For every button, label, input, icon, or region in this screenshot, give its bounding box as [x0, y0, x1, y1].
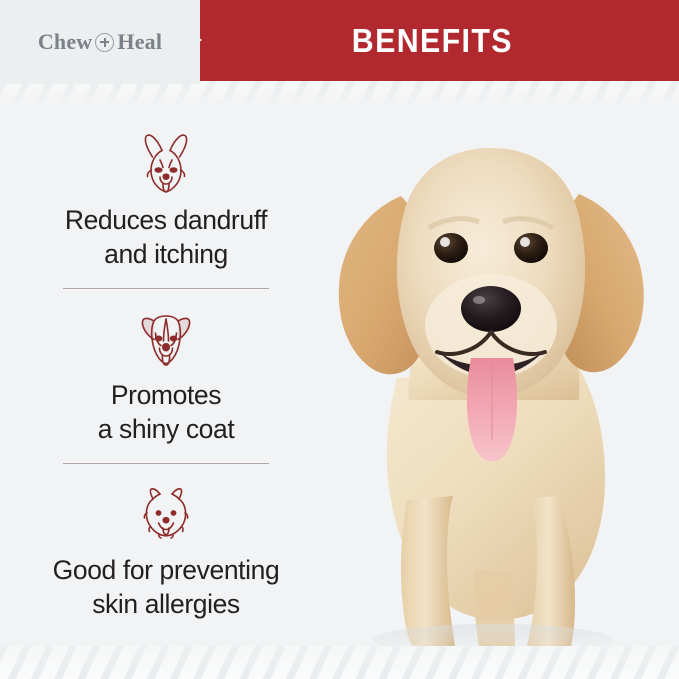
benefits-banner: BENEFITS [180, 0, 679, 81]
benefit-line-1: Good for preventing [16, 554, 316, 588]
diagonal-stripe-band-top [0, 81, 679, 105]
benefit-item: Reduces dandruff and itching [8, 128, 324, 272]
puppy-right-eye-highlight [520, 237, 530, 247]
benefit-text: Promotes a shiny coat [41, 379, 291, 447]
logo-lockup: Chew Heal [38, 31, 162, 53]
benefit-divider [63, 463, 269, 464]
terrier-dog-face-icon [128, 303, 204, 373]
benefit-line-1: Promotes [41, 379, 291, 413]
benefits-list: Reduces dandruff and itching [8, 128, 324, 621]
benefit-item: Good for preventing skin allergies [8, 478, 324, 622]
benefit-line-2: and itching [26, 238, 306, 272]
puppy-right-eye [514, 233, 548, 263]
plus-circle-icon [95, 33, 114, 52]
diagonal-stripe-band-bottom [0, 646, 679, 679]
puppy-front-left-leg [401, 496, 455, 646]
puppy-photo [279, 100, 679, 646]
puppy-left-eye [434, 233, 468, 263]
benefit-item: Promotes a shiny coat [8, 303, 324, 447]
header-bar: BENEFITS Chew Heal [0, 0, 679, 84]
logo-word-chew: Chew [38, 31, 93, 53]
page-title: BENEFITS [346, 22, 513, 60]
puppy-left-eye-highlight [440, 237, 450, 247]
benefit-text: Good for preventing skin allergies [16, 554, 316, 622]
puppy-nose [461, 286, 521, 332]
puppy-nose-highlight [473, 296, 485, 304]
benefit-line-1: Reduces dandruff [26, 204, 306, 238]
benefits-infographic: BENEFITS Chew Heal [0, 0, 679, 679]
benefit-line-2: skin allergies [16, 588, 316, 622]
benefit-text: Reduces dandruff and itching [26, 204, 306, 272]
benefit-divider [63, 288, 269, 289]
corgi-dog-face-icon [128, 128, 204, 198]
benefit-line-2: a shiny coat [41, 413, 291, 447]
logo-word-heal: Heal [117, 31, 162, 53]
brand-logo: Chew Heal [0, 0, 200, 84]
samoyed-dog-face-icon [128, 478, 204, 548]
